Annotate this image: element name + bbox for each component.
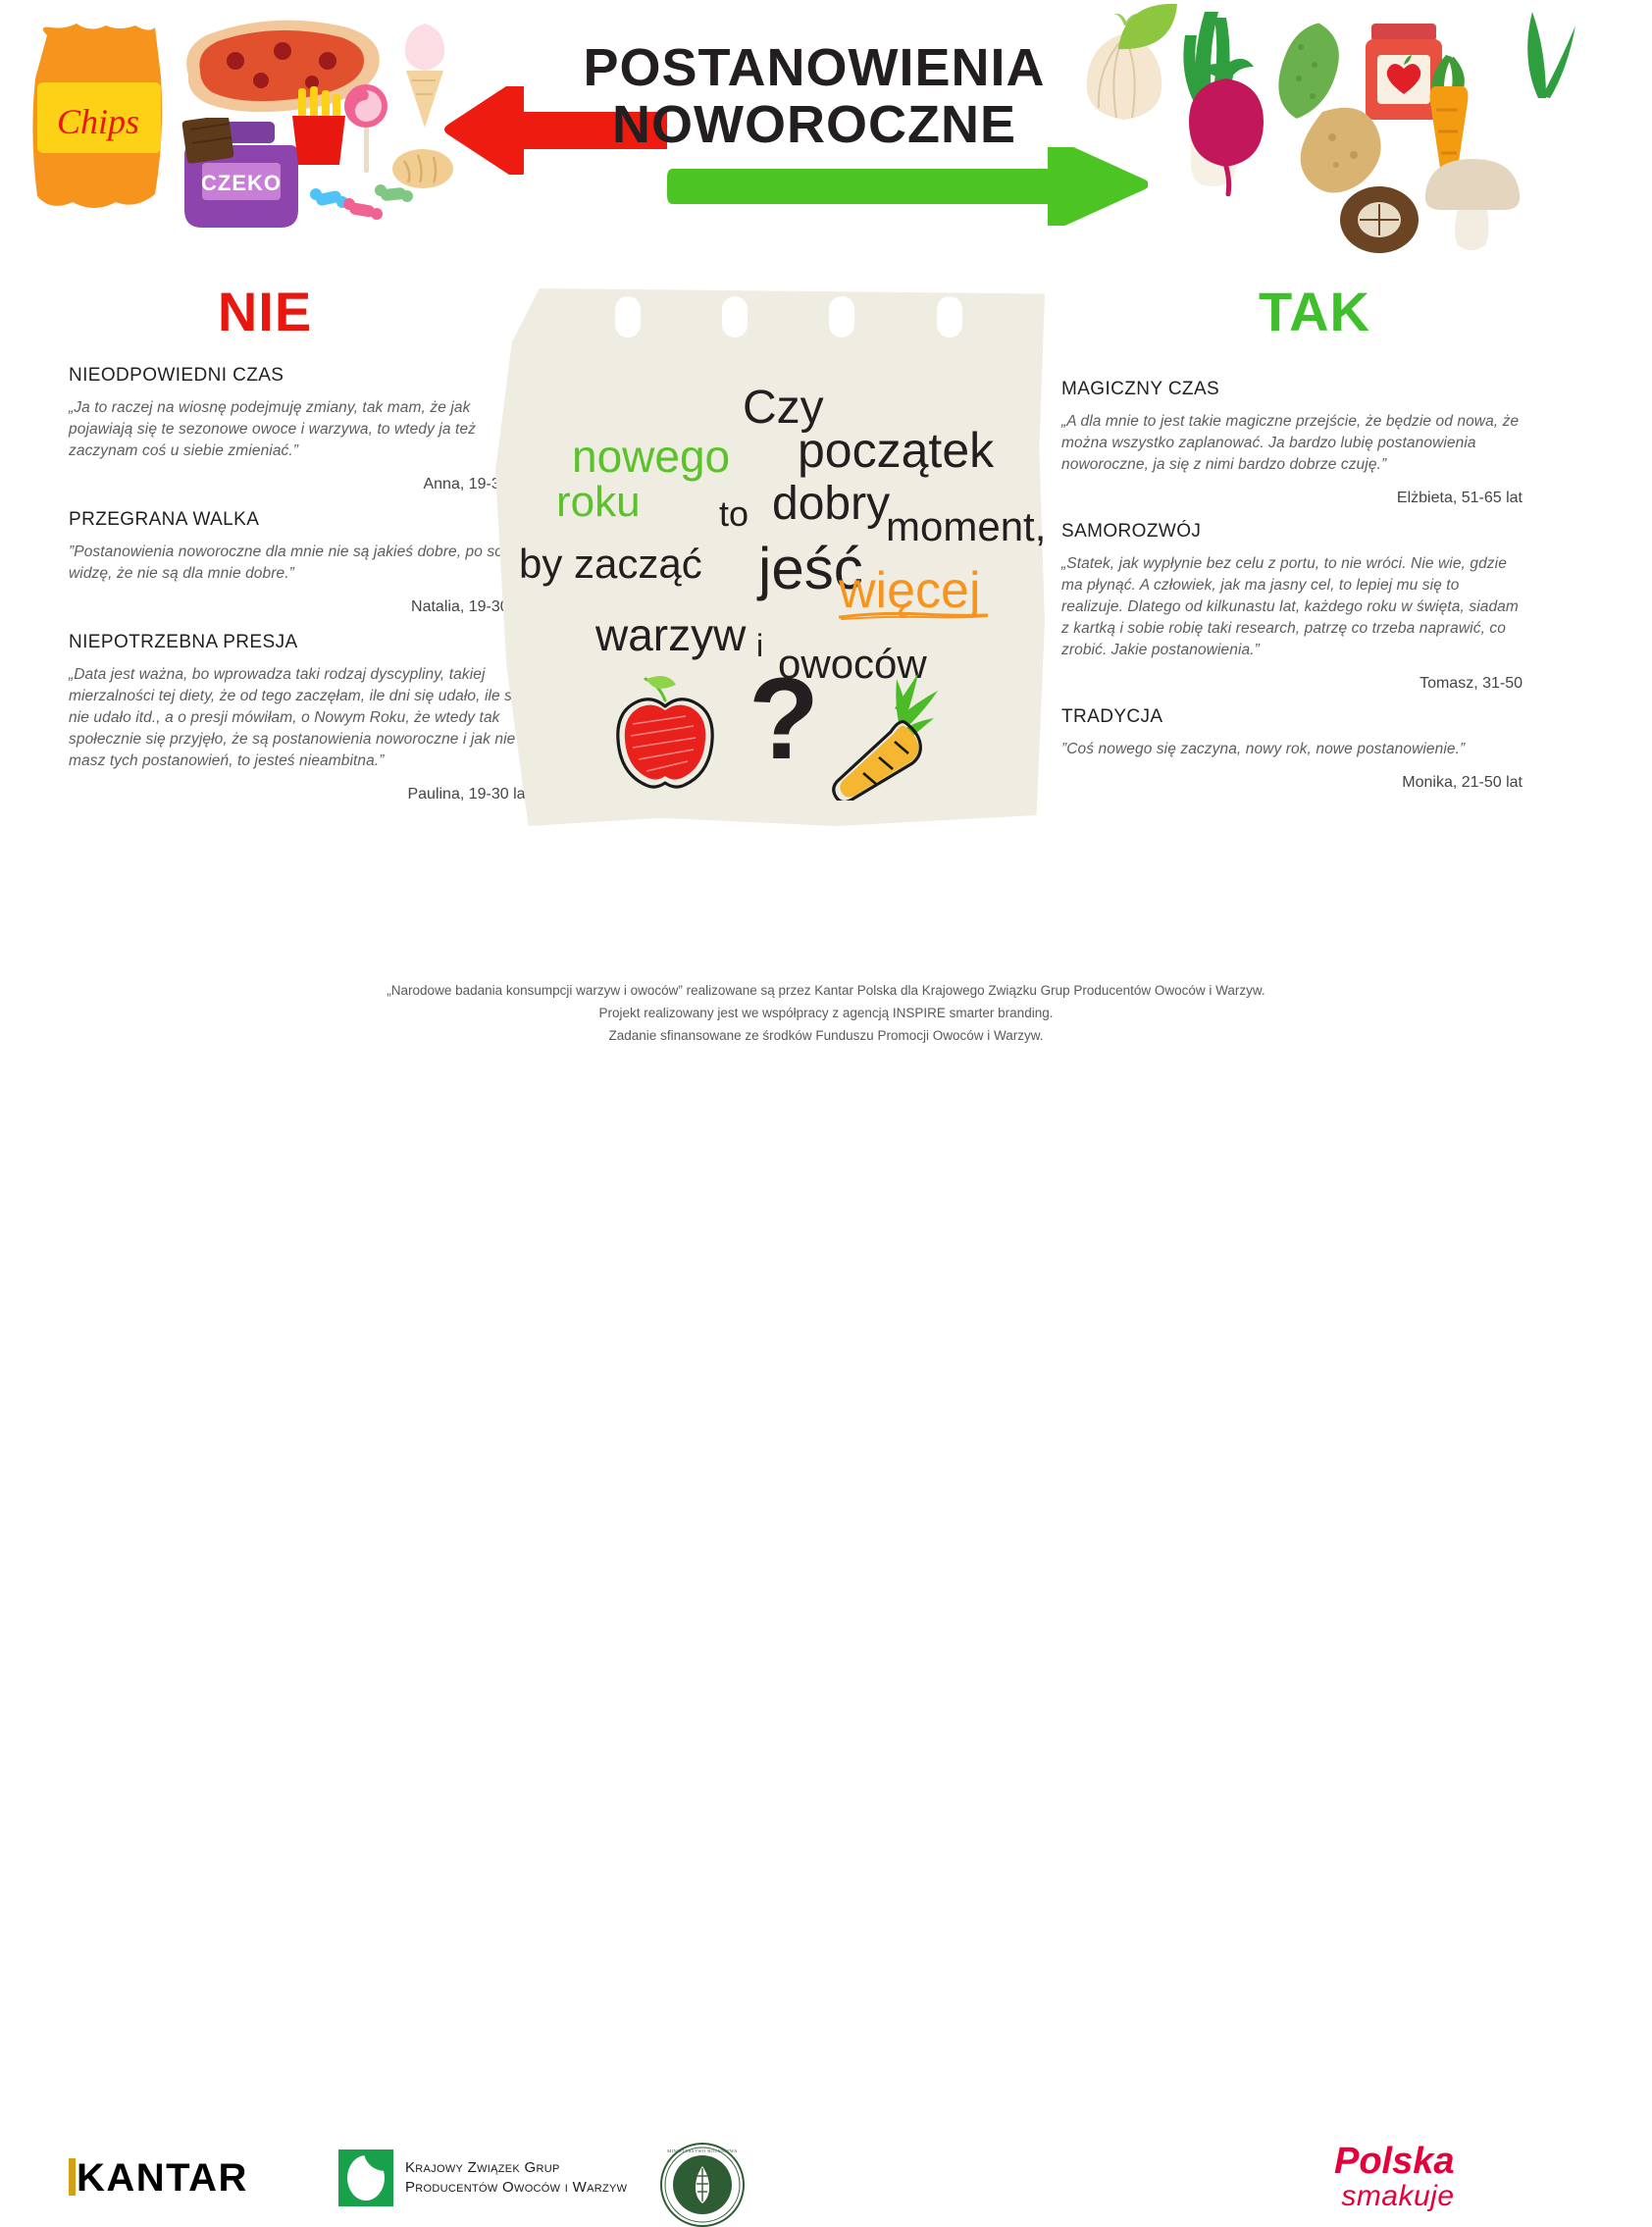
block-author: Anna, 19-30 lat	[69, 476, 530, 493]
block-author: Tomasz, 31-50	[1061, 675, 1523, 693]
green-leaf-icon-2	[1499, 6, 1583, 100]
block-author: Elżbieta, 51-65 lat	[1061, 490, 1523, 507]
block-author: Paulina, 19-30 lat	[69, 786, 530, 803]
svg-text:Chips: Chips	[57, 102, 139, 141]
block-title: SAMOROZWÓJ	[1061, 521, 1523, 543]
block-title: NIEODPOWIEDNI CZAS	[69, 365, 530, 387]
paper-punch-hole	[937, 296, 962, 337]
polska-smakuje-logo: Polska smakuje	[1334, 2143, 1455, 2211]
word-roku: roku	[556, 481, 641, 524]
kzg-text: Krajowy Związek Grup Producentów Owoców …	[405, 2158, 627, 2198]
svg-text:CZEKO: CZEKO	[201, 171, 282, 195]
block-title: MAGICZNY CZAS	[1061, 379, 1523, 400]
mushroom-icon	[1419, 149, 1526, 253]
potato-icon	[1293, 104, 1387, 194]
left-block-1: NIEODPOWIEDNI CZAS „Ja to raczej na wios…	[69, 365, 530, 493]
block-title: PRZEGRANA WALKA	[69, 509, 530, 531]
footer-line-1: „Narodowe badania konsumpcji warzyw i ow…	[90, 981, 1562, 1000]
block-title: NIEPOTRZEBNA PRESJA	[69, 632, 530, 653]
word-by-zaczac: by zacząć	[519, 544, 702, 585]
center-paper-panel: Czy początek nowego roku to dobry moment…	[495, 267, 1045, 826]
title-line-1: POSTANOWIENIA	[500, 39, 1128, 96]
block-quote: „Ja to raczej na wiosnę podejmuję zmiany…	[69, 397, 530, 462]
footer-line-3: Zadanie sfinansowane ze środków Funduszu…	[90, 1026, 1562, 1045]
nie-label: NIE	[59, 280, 471, 343]
chips-bag-icon: Chips	[18, 18, 175, 224]
paper-punch-hole	[829, 296, 854, 337]
word-moment: moment,	[886, 506, 1046, 547]
block-author: Natalia, 19-30 lat	[69, 598, 530, 616]
ministry-logo: MINISTERSTWO ROLNICTWA	[660, 2143, 745, 2227]
right-block-1: MAGICZNY CZAS „A dla mnie to jest takie …	[1061, 379, 1523, 507]
smakuje-word: smakuje	[1334, 2182, 1455, 2211]
dark-mushroom-icon	[1338, 182, 1420, 257]
beetroot-icon	[1173, 57, 1281, 196]
footer-line-2: Projekt realizowany jest we współpracy z…	[90, 1004, 1562, 1022]
block-quote: „Data jest ważna, bo wprowadza taki rodz…	[69, 664, 530, 772]
ministry-ring-text: MINISTERSTWO ROLNICTWA	[667, 2149, 738, 2153]
kantar-bar-icon	[69, 2158, 76, 2196]
kzg-line-2: Producentów Owoców i Warzyw	[405, 2178, 627, 2198]
kzg-logo: Krajowy Związek Grup Producentów Owoców …	[338, 2149, 627, 2206]
infographic-root: Chips CZEKO	[0, 0, 1652, 1167]
title-line-2: NOWOROCZNE	[500, 96, 1128, 153]
fries-icon	[288, 86, 349, 169]
right-block-3: TRADYCJA ”Coś nowego się zaczyna, nowy r…	[1061, 706, 1523, 792]
word-poczatek: początek	[798, 426, 994, 475]
paper-punch-hole	[722, 296, 748, 337]
block-quote: „Statek, jak wypłynie bez celu z portu, …	[1061, 553, 1523, 661]
green-right-arrow-icon	[667, 147, 1148, 226]
block-author: Monika, 21-50 lat	[1061, 774, 1523, 792]
lollipop-icon	[343, 82, 388, 177]
block-title: TRADYCJA	[1061, 706, 1523, 728]
word-wiecej: więcej	[839, 565, 981, 616]
word-cloud: Czy początek nowego roku to dobry moment…	[495, 288, 1045, 826]
block-quote: ”Coś nowego się zaczyna, nowy rok, nowe …	[1061, 739, 1523, 760]
left-block-3: NIEPOTRZEBNA PRESJA „Data jest ważna, bo…	[69, 632, 530, 803]
carrot-sketch-icon	[824, 663, 948, 801]
block-quote: „A dla mnie to jest takie magiczne przej…	[1061, 411, 1523, 476]
kzg-fruit-icon	[338, 2149, 393, 2206]
block-quote: ”Postanowienia noworoczne dla mnie nie s…	[69, 542, 530, 585]
word-nowego: nowego	[572, 434, 730, 479]
question-mark: ?	[749, 661, 819, 777]
polska-word: Polska	[1334, 2143, 1455, 2180]
kantar-wordmark: KANTAR	[77, 2156, 248, 2200]
kantar-logo: KANTAR	[69, 2156, 248, 2201]
word-to: to	[719, 496, 749, 532]
tak-label: TAK	[1109, 280, 1521, 343]
logo-row: KANTAR Krajowy Związek Grup Producentów …	[0, 1065, 1652, 1164]
word-warzyw: warzyw	[595, 612, 746, 657]
wiecej-underline	[839, 611, 988, 620]
chocolate-jar-icon: CZEKO	[179, 118, 304, 232]
footer-note: „Narodowe badania konsumpcji warzyw i ow…	[90, 981, 1562, 1049]
kzg-line-1: Krajowy Związek Grup	[405, 2158, 627, 2178]
apple-sketch-icon	[611, 665, 719, 789]
right-column-tak: MAGICZNY CZAS „A dla mnie to jest takie …	[1061, 379, 1523, 805]
right-block-2: SAMOROZWÓJ „Statek, jak wypłynie bez cel…	[1061, 521, 1523, 693]
left-column-nie: NIEODPOWIEDNI CZAS „Ja to raczej na wios…	[69, 365, 530, 819]
page-title: POSTANOWIENIA NOWOROCZNE	[500, 39, 1128, 154]
word-dobry: dobry	[772, 481, 890, 528]
left-block-2: PRZEGRANA WALKA ”Postanowienia noworoczn…	[69, 509, 530, 616]
paper-punch-hole	[615, 296, 641, 337]
